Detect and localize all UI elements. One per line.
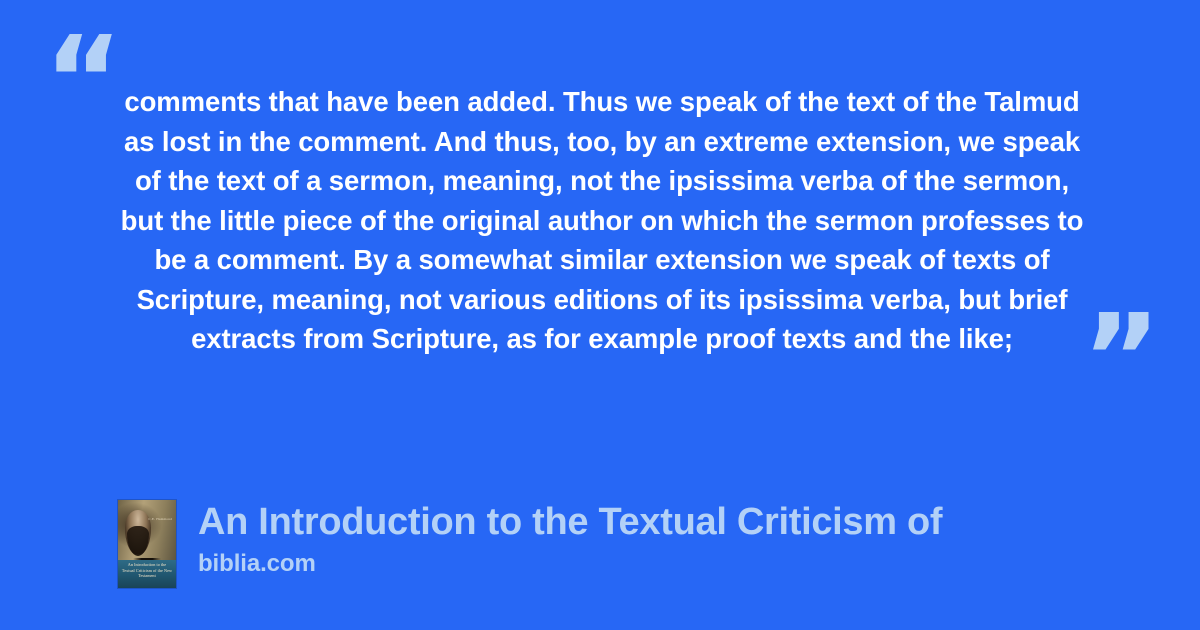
source-url[interactable]: biblia.com xyxy=(198,550,942,578)
source-text-group: An Introduction to the Textual Criticism… xyxy=(198,500,942,578)
source-title: An Introduction to the Textual Criticism… xyxy=(198,500,942,544)
quote-card: “ comments that have been added. Thus we… xyxy=(0,0,1200,630)
book-cover-author: C.E. Hammond xyxy=(148,517,172,521)
source-attribution: C.E. Hammond An Introduction to the Text… xyxy=(118,500,942,588)
quote-block: “ comments that have been added. Thus we… xyxy=(0,0,1200,450)
close-quote-icon: ” xyxy=(1082,300,1161,420)
book-cover-thumbnail: C.E. Hammond An Introduction to the Text… xyxy=(118,500,176,588)
book-cover-title: An Introduction to the Textual Criticism… xyxy=(121,562,173,579)
book-cover-title-band: An Introduction to the Textual Criticism… xyxy=(118,560,176,588)
open-quote-icon: “ xyxy=(44,22,123,142)
quote-text: comments that have been added. Thus we s… xyxy=(118,82,1086,359)
book-cover-photo: C.E. Hammond xyxy=(118,500,176,560)
